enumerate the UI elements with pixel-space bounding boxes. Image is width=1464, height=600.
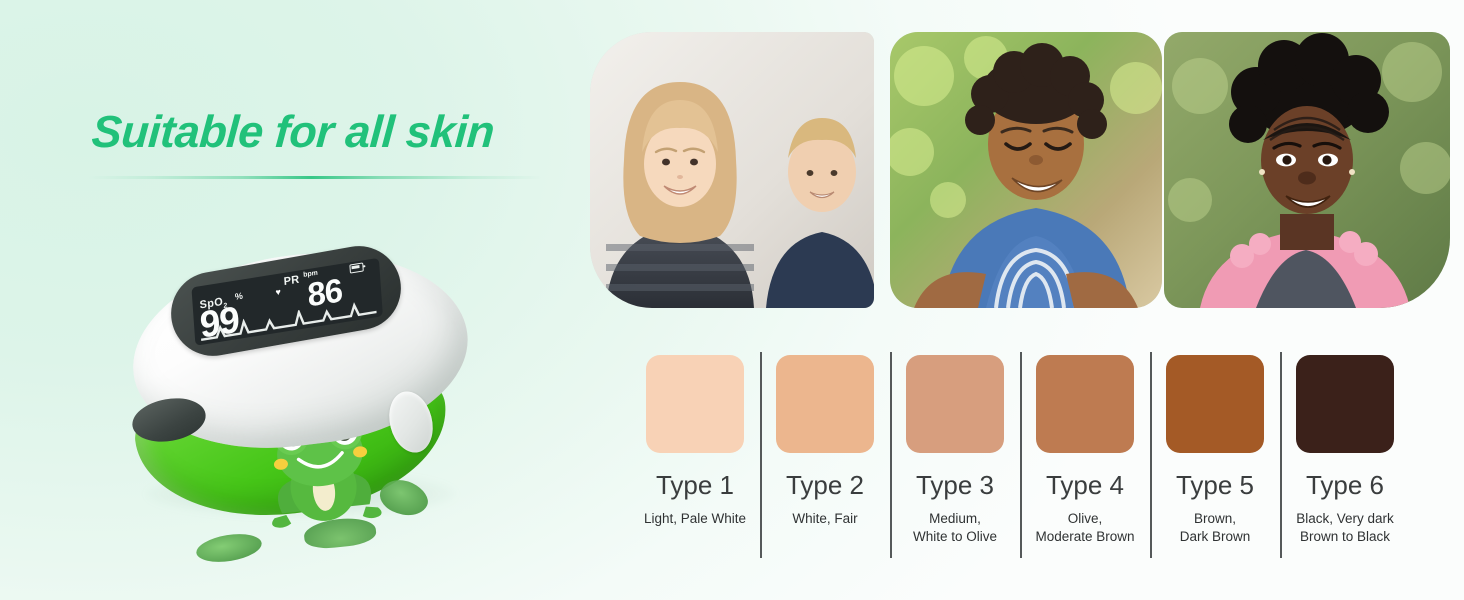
- photo-card-light-skin: [590, 32, 874, 308]
- suitable-for-all-skin-banner: Suitable for all skin: [0, 0, 1464, 600]
- skin-type-title-3: Type 3: [890, 470, 1020, 501]
- photo-boy-blue-shirt: [890, 32, 1162, 308]
- skin-swatch-3: [906, 355, 1004, 453]
- lilypad-icon: [194, 530, 263, 566]
- left-panel: Suitable for all skin: [0, 0, 580, 600]
- skin-type-title-4: Type 4: [1020, 470, 1150, 501]
- skin-swatch-1: [646, 355, 744, 453]
- skin-swatch-4: [1036, 355, 1134, 453]
- skin-type-column-2: Type 2 White, Fair: [760, 352, 890, 564]
- page-title: Suitable for all skin: [90, 108, 553, 155]
- skin-type-column-5: Type 5 Brown, Dark Brown: [1150, 352, 1280, 564]
- skin-type-desc-3: Medium, White to Olive: [890, 510, 1020, 546]
- photo-girl-pink-top: [1164, 32, 1450, 308]
- skin-type-title-6: Type 6: [1280, 470, 1410, 501]
- skin-type-desc-4: Olive, Moderate Brown: [1020, 510, 1150, 546]
- fitzpatrick-skin-type-scale: Type 1 Light, Pale White Type 2 White, F…: [630, 352, 1452, 564]
- skin-type-column-4: Type 4 Olive, Moderate Brown: [1020, 352, 1150, 564]
- headline-divider: [88, 176, 543, 179]
- skin-type-desc-1: Light, Pale White: [630, 510, 760, 528]
- skin-swatch-6: [1296, 355, 1394, 453]
- photo-card-medium-skin: [890, 32, 1162, 308]
- photo-two-fair-children: [590, 32, 874, 308]
- skin-type-column-3: Type 3 Medium, White to Olive: [890, 352, 1020, 564]
- skin-swatch-2: [776, 355, 874, 453]
- photo-card-dark-skin: [1164, 32, 1450, 308]
- battery-icon: [349, 262, 363, 273]
- pr-label: PR: [283, 274, 300, 289]
- pulse-oximeter-device: SpO2 % 99 ♥ PR bpm 86: [118, 243, 488, 543]
- skin-type-column-1: Type 1 Light, Pale White: [630, 352, 760, 564]
- skin-type-desc-5: Brown, Dark Brown: [1150, 510, 1280, 546]
- skin-type-title-1: Type 1: [630, 470, 760, 501]
- heart-icon: ♥: [275, 287, 281, 298]
- skin-type-title-5: Type 5: [1150, 470, 1280, 501]
- skin-type-desc-6: Black, Very dark Brown to Black: [1280, 510, 1410, 546]
- skin-swatch-5: [1166, 355, 1264, 453]
- skin-type-title-2: Type 2: [760, 470, 890, 501]
- battery-fill: [351, 265, 359, 269]
- skin-type-column-6: Type 6 Black, Very dark Brown to Black: [1280, 352, 1410, 564]
- skin-type-desc-2: White, Fair: [760, 510, 890, 528]
